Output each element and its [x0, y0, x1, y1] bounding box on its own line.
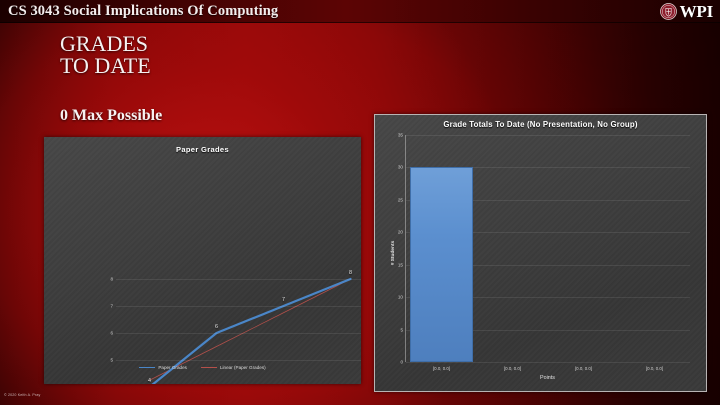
bar-chart-y-tick-label: 20 — [398, 230, 403, 235]
wpi-seal-icon — [660, 3, 677, 20]
wpi-logo-text: WPI — [680, 2, 713, 22]
bar-chart-y-tick-label: 30 — [398, 165, 403, 170]
line-chart-gridline — [116, 279, 361, 280]
line-chart-y-tick-label: 5 — [110, 358, 113, 363]
page-subtitle: 0 Max Possible — [60, 107, 162, 125]
bar-chart-y-tick-label: 0 — [400, 360, 403, 365]
line-chart-y-tick-label: 6 — [110, 331, 113, 336]
line-chart-y-tick-label: 7 — [110, 304, 113, 309]
wpi-logo: WPI — [660, 1, 713, 22]
line-chart-gridline — [116, 360, 361, 361]
line-chart-data-label: 4 — [148, 378, 151, 384]
bar-chart-x-tick-label: [0.0, 0.0] — [646, 366, 663, 371]
page-title: GRADES TO DATE — [60, 33, 151, 78]
line-chart-title: Paper Grades — [44, 145, 361, 154]
legend-item-linear-trend: Linear (Paper Grades) — [201, 365, 266, 370]
bar-chart-plot-area: 05101520253035[0.0, 0.0][0.0, 0.0][0.0, … — [405, 135, 690, 362]
line-chart-gridline — [116, 306, 361, 307]
grade-totals-chart-panel: Grade Totals To Date (No Presentation, N… — [374, 114, 707, 392]
bar-chart-x-axis-title: Points — [405, 375, 690, 381]
line-chart-legend: Paper Grades Linear (Paper Grades) — [44, 365, 361, 370]
bar-chart-bar — [410, 167, 472, 362]
course-title: CS 3043 Social Implications Of Computing — [8, 3, 278, 20]
paper-grades-chart-panel: Paper Grades 012345678Technology Timelin… — [44, 137, 361, 384]
line-chart-data-label: 6 — [215, 324, 218, 330]
bar-chart-gridline — [406, 135, 690, 136]
bar-chart-y-axis-title: # Students — [391, 241, 396, 266]
legend-swatch-line — [139, 367, 155, 369]
line-chart-y-tick-label: 8 — [110, 277, 113, 282]
bar-chart-y-tick-label: 15 — [398, 262, 403, 267]
bar-chart-y-tick-label: 25 — [398, 197, 403, 202]
legend-label-paper-grades: Paper Grades — [158, 365, 187, 370]
legend-item-paper-grades: Paper Grades — [139, 365, 187, 370]
bar-chart-title: Grade Totals To Date (No Presentation, N… — [375, 120, 706, 129]
bar-chart-y-tick-label: 35 — [398, 133, 403, 138]
bar-chart-y-tick-label: 10 — [398, 295, 403, 300]
bar-chart-x-tick-label: [0.0, 0.0] — [575, 366, 592, 371]
slide-canvas: CS 3043 Social Implications Of Computing… — [0, 0, 720, 405]
bar-chart-x-tick-label: [0.0, 0.0] — [433, 366, 450, 371]
page-title-line-2: TO DATE — [60, 55, 151, 77]
slide-header-bar: CS 3043 Social Implications Of Computing… — [0, 0, 720, 23]
line-chart-data-label: 7 — [282, 297, 285, 303]
copyright-notice: © 2020 Keith A. Pray — [4, 393, 40, 397]
bar-chart-gridline — [406, 362, 690, 363]
bar-chart-x-tick-label: [0.0, 0.0] — [504, 366, 521, 371]
bar-chart-y-tick-label: 5 — [400, 327, 403, 332]
legend-swatch-trendline — [201, 367, 217, 369]
legend-label-linear-trend: Linear (Paper Grades) — [220, 365, 266, 370]
page-title-line-1: GRADES — [60, 33, 151, 55]
line-chart-data-label: 8 — [349, 270, 352, 276]
line-chart-gridline — [116, 333, 361, 334]
